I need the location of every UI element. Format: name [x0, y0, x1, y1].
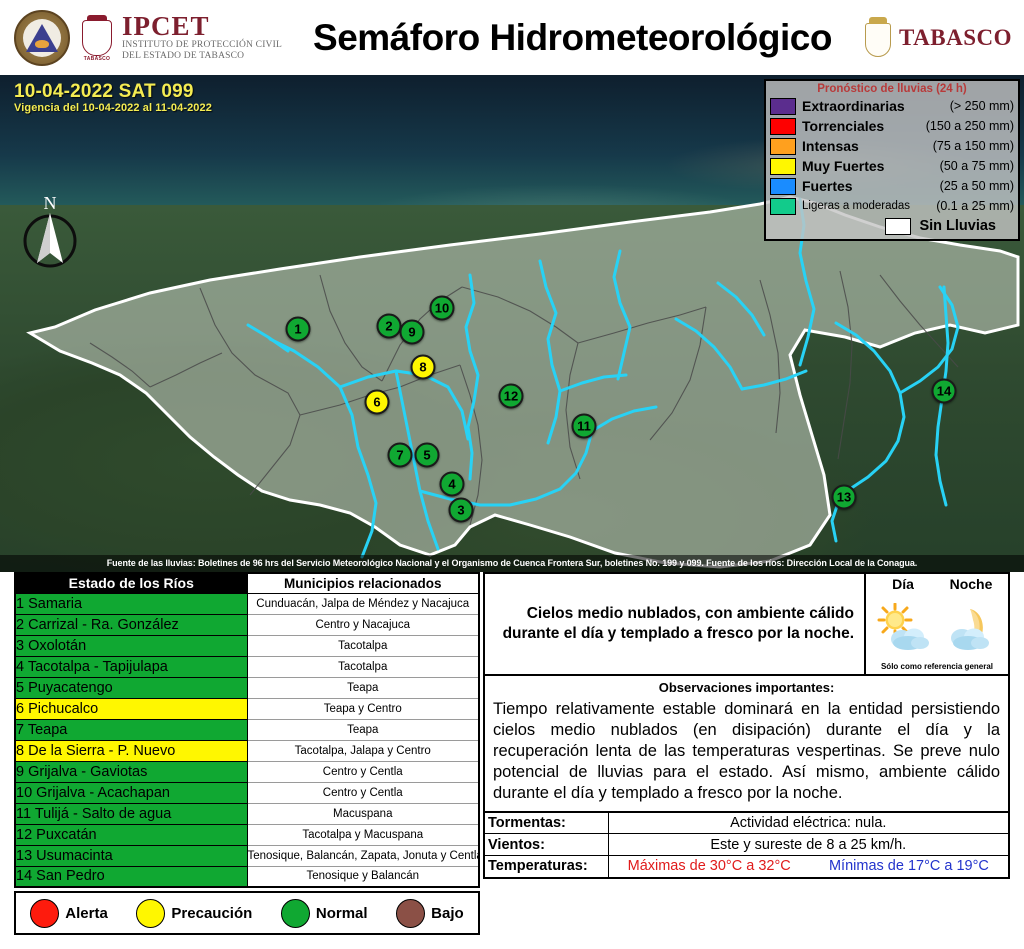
no-rain-swatch-icon: [885, 218, 911, 235]
table-row[interactable]: 6 PichucalcoTeapa y Centro: [15, 698, 479, 719]
map-date-block: 10-04-2022 SAT 099 Vigencia del 10-04-20…: [14, 82, 212, 114]
rivers-header-state: Estado de los Ríos: [15, 573, 247, 593]
municipios-cell: Tenosique y Balancán: [247, 866, 479, 887]
municipios-cell: Teapa: [247, 719, 479, 740]
conditions-row-storms: Tormentas: Actividad eléctrica: nula.: [484, 812, 1009, 834]
municipios-cell: Cunduacán, Jalpa de Méndez y Nacajuca: [247, 593, 479, 614]
rain-legend-swatch-icon: [770, 178, 796, 195]
status-legend-item: Normal: [281, 899, 368, 928]
river-name-cell: 7 Teapa: [15, 719, 247, 740]
river-name-cell: 12 Puxcatán: [15, 824, 247, 845]
map-river-marker-7[interactable]: 7: [388, 443, 413, 468]
map-river-marker-6[interactable]: 6: [365, 390, 390, 415]
rain-legend-swatch-icon: [770, 158, 796, 175]
tabasco-shield-icon: [863, 16, 893, 60]
status-legend-item: Alerta: [30, 899, 108, 928]
map-river-marker-12[interactable]: 12: [499, 384, 524, 409]
forecast-summary-row: Cielos medio nublados, con ambiente cáli…: [483, 572, 1010, 674]
river-name-cell: 3 Oxolotán: [15, 635, 247, 656]
status-dot-icon: [281, 899, 310, 928]
conditions-table: Tormentas: Actividad eléctrica: nula. Vi…: [483, 811, 1010, 879]
storms-label: Tormentas:: [484, 812, 608, 834]
municipios-cell: Centro y Centla: [247, 782, 479, 803]
moon-behind-cloud-icon: [940, 603, 1002, 651]
status-legend-label: Precaución: [171, 905, 252, 922]
municipios-cell: Teapa y Centro: [247, 698, 479, 719]
status-dot-icon: [136, 899, 165, 928]
status-legend-label: Bajo: [431, 905, 464, 922]
river-name-cell: 9 Grijalva - Gaviotas: [15, 761, 247, 782]
municipios-cell: Macuspana: [247, 803, 479, 824]
rain-legend-row: Ligeras a moderadas(0.1 a 25 mm): [770, 196, 1014, 216]
observations-box: Observaciones importantes: Tiempo relati…: [483, 674, 1010, 811]
table-row[interactable]: 7 TeapaTeapa: [15, 719, 479, 740]
map-river-marker-1[interactable]: 1: [286, 317, 311, 342]
rain-legend-range: (25 a 50 mm): [940, 179, 1014, 193]
rain-legend-range: (0.1 a 25 mm): [936, 199, 1014, 213]
rain-legend-label: Intensas: [802, 138, 859, 154]
rivers-table: Estado de los Ríos Municipios relacionad…: [14, 572, 480, 888]
rain-legend-label: Extraordinarias: [802, 98, 905, 114]
ipcet-shield-label: TABASCO: [84, 56, 110, 62]
winds-value: Este y sureste de 8 a 25 km/h.: [608, 834, 1009, 856]
map-validity-line: Vigencia del 10-04-2022 al 11-04-2022: [14, 102, 212, 114]
map-river-marker-2[interactable]: 2: [377, 314, 402, 339]
compass-north-icon: N: [18, 193, 82, 269]
rivers-column: Estado de los Ríos Municipios relacionad…: [0, 572, 483, 949]
table-row[interactable]: 2 Carrizal - Ra. GonzálezCentro y Nacaju…: [15, 614, 479, 635]
map-river-marker-14[interactable]: 14: [932, 379, 957, 404]
night-weather-icon-wrap: [937, 603, 1005, 651]
municipios-cell: Tacotalpa, Jalapa y Centro: [247, 740, 479, 761]
map-river-marker-13[interactable]: 13: [832, 485, 857, 510]
map-river-marker-3[interactable]: 3: [449, 498, 474, 523]
ipcet-shield-icon: TABASCO: [80, 15, 114, 61]
storms-value: Actividad eléctrica: nula.: [608, 812, 1009, 834]
bottom-panel: Estado de los Ríos Municipios relacionad…: [0, 572, 1024, 949]
rain-legend-row: Muy Fuertes(50 a 75 mm): [770, 156, 1014, 176]
tabasco-brand: TABASCO: [863, 16, 1012, 60]
rain-legend-title: Pronóstico de lluvias (24 h): [770, 83, 1014, 95]
observations-text: Tiempo relativamente estable dominará en…: [493, 699, 1000, 805]
river-name-cell: 8 De la Sierra - P. Nuevo: [15, 740, 247, 761]
river-name-cell: 14 San Pedro: [15, 866, 247, 887]
status-legend-item: Bajo: [396, 899, 464, 928]
river-name-cell: 13 Usumacinta: [15, 845, 247, 866]
rain-legend-label: Ligeras a moderadas: [802, 200, 910, 212]
table-row[interactable]: 14 San PedroTenosique y Balancán: [15, 866, 479, 887]
page-header: TABASCO IPCET INSTITUTO DE PROTECCIÓN CI…: [0, 0, 1024, 75]
rain-legend-row: Torrenciales(150 a 250 mm): [770, 116, 1014, 136]
rain-forecast-legend: Pronóstico de lluvias (24 h) Extraordina…: [764, 79, 1020, 241]
river-name-cell: 11 Tulijá - Salto de agua: [15, 803, 247, 824]
municipios-cell: Tacotalpa y Macuspana: [247, 824, 479, 845]
rain-legend-no-rain-row: Sin Lluvias: [770, 216, 1014, 236]
rain-legend-label: Muy Fuertes: [802, 158, 884, 174]
day-night-reference: Día Noche: [866, 574, 1008, 674]
rain-legend-range: (75 a 150 mm): [933, 139, 1014, 153]
rain-legend-range: (50 a 75 mm): [940, 159, 1014, 173]
rain-legend-items: Extraordinarias(> 250 mm)Torrenciales(15…: [770, 96, 1014, 216]
status-legend: AlertaPrecauciónNormalBajo: [14, 891, 480, 935]
rain-legend-label: Fuertes: [802, 178, 853, 194]
temps-label: Temperaturas:: [484, 856, 608, 878]
winds-label: Vientos:: [484, 834, 608, 856]
status-legend-label: Alerta: [65, 905, 108, 922]
table-row[interactable]: 4 Tacotalpa - TapijulapaTacotalpa: [15, 656, 479, 677]
table-row[interactable]: 12 PuxcatánTacotalpa y Macuspana: [15, 824, 479, 845]
table-row[interactable]: 5 PuyacatengoTeapa: [15, 677, 479, 698]
river-name-cell: 10 Grijalva - Acachapan: [15, 782, 247, 803]
rivers-header-municipios: Municipios relacionados: [247, 573, 479, 593]
map-river-marker-10[interactable]: 10: [430, 296, 455, 321]
table-row[interactable]: 11 Tulijá - Salto de aguaMacuspana: [15, 803, 479, 824]
observations-title: Observaciones importantes:: [493, 680, 1000, 695]
municipios-cell: Centro y Nacajuca: [247, 614, 479, 635]
table-row[interactable]: 9 Grijalva - GaviotasCentro y Centla: [15, 761, 479, 782]
rain-legend-swatch-icon: [770, 118, 796, 135]
rain-legend-swatch-icon: [770, 198, 796, 215]
map-river-marker-8[interactable]: 8: [411, 355, 436, 380]
river-name-cell: 6 Pichucalco: [15, 698, 247, 719]
status-legend-label: Normal: [316, 905, 368, 922]
map-river-marker-5[interactable]: 5: [415, 443, 440, 468]
table-row[interactable]: 1 SamariaCunduacán, Jalpa de Méndez y Na…: [15, 593, 479, 614]
ipcet-wordmark: IPCET INSTITUTO DE PROTECCIÓN CIVIL DEL …: [122, 13, 282, 62]
status-dot-icon: [396, 899, 425, 928]
conditions-row-temps: Temperaturas: Máximas de 30°C a 32°C Mín…: [484, 856, 1009, 878]
ipcet-line-1: INSTITUTO DE PROTECCIÓN CIVIL: [122, 40, 282, 51]
status-dot-icon: [30, 899, 59, 928]
rain-legend-row: Fuertes(25 a 50 mm): [770, 176, 1014, 196]
river-name-cell: 1 Samaria: [15, 593, 247, 614]
day-night-reference-note: Sólo como referencia general: [869, 662, 1005, 672]
temps-values: Máximas de 30°C a 32°C Mínimas de 17°C a…: [608, 856, 1009, 878]
rain-legend-label: Torrenciales: [802, 118, 884, 134]
municipios-cell: Tacotalpa: [247, 656, 479, 677]
municipios-cell: Centro y Centla: [247, 761, 479, 782]
rain-legend-row: Intensas(75 a 150 mm): [770, 136, 1014, 156]
map-river-marker-4[interactable]: 4: [440, 472, 465, 497]
map-date-line: 10-04-2022 SAT 099: [14, 82, 212, 102]
table-row[interactable]: 10 Grijalva - AcachapanCentro y Centla: [15, 782, 479, 803]
no-rain-label: Sin Lluvias: [919, 218, 996, 234]
table-row[interactable]: 8 De la Sierra - P. NuevoTacotalpa, Jala…: [15, 740, 479, 761]
page-title: Semáforo Hidrometeorológico: [282, 17, 863, 59]
rain-legend-range: (> 250 mm): [950, 99, 1014, 113]
municipios-cell: Tacotalpa: [247, 635, 479, 656]
conditions-row-winds: Vientos: Este y sureste de 8 a 25 km/h.: [484, 834, 1009, 856]
temps-min-value: Mínimas de 17°C a 19°C: [829, 858, 989, 874]
municipios-cell: Teapa: [247, 677, 479, 698]
night-label: Noche: [937, 576, 1005, 592]
tabasco-wordmark: TABASCO: [899, 25, 1012, 51]
rain-legend-row: Extraordinarias(> 250 mm): [770, 96, 1014, 116]
temps-max-value: Máximas de 30°C a 32°C: [628, 858, 791, 874]
day-label: Día: [869, 576, 937, 592]
table-row[interactable]: 3 OxolotánTacotalpa: [15, 635, 479, 656]
sun-behind-cloud-icon: [872, 603, 934, 651]
day-weather-icon-wrap: [869, 603, 937, 651]
municipios-cell: Tenosique, Balancán, Zapata, Jonuta y Ce…: [247, 845, 479, 866]
river-name-cell: 4 Tacotalpa - Tapijulapa: [15, 656, 247, 677]
status-legend-item: Precaución: [136, 899, 252, 928]
rain-legend-swatch-icon: [770, 98, 796, 115]
ipcet-line-2: DEL ESTADO DE TABASCO: [122, 51, 282, 62]
proteccion-civil-seal-icon: [14, 10, 70, 66]
map-source-note: Fuente de las lluvias: Boletines de 96 h…: [0, 555, 1024, 572]
map-panel[interactable]: 10-04-2022 SAT 099 Vigencia del 10-04-20…: [0, 75, 1024, 572]
map-river-marker-9[interactable]: 9: [400, 320, 425, 345]
forecast-summary-text: Cielos medio nublados, con ambiente cáli…: [485, 574, 866, 674]
river-name-cell: 2 Carrizal - Ra. González: [15, 614, 247, 635]
ipcet-acronym: IPCET: [122, 13, 282, 40]
rain-legend-range: (150 a 250 mm): [926, 119, 1014, 133]
rain-legend-swatch-icon: [770, 138, 796, 155]
table-row[interactable]: 13 UsumacintaTenosique, Balancán, Zapata…: [15, 845, 479, 866]
map-river-marker-11[interactable]: 11: [572, 414, 597, 439]
rivers-table-header-row: Estado de los Ríos Municipios relacionad…: [15, 573, 479, 593]
river-name-cell: 5 Puyacatengo: [15, 677, 247, 698]
forecast-column: Cielos medio nublados, con ambiente cáli…: [483, 572, 1024, 949]
